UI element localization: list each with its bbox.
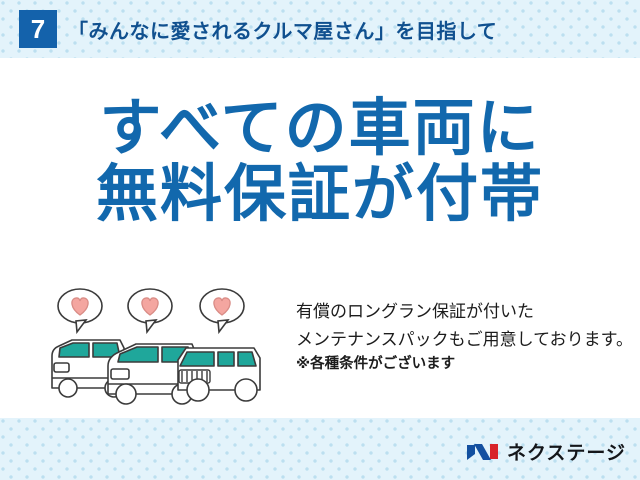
body-note: ※各種条件がございます <box>296 353 633 376</box>
headline-line-2: 無料保証が付帯 <box>0 162 640 228</box>
headline-line-1: すべての車両に <box>0 96 640 162</box>
header-title: 「みんなに愛されるクルマ屋さん」を目指して <box>68 15 497 44</box>
section-number-badge: 7 <box>19 10 57 48</box>
content-row: 有償のロングラン保証が付いた メンテナンスパックもご用意しております。 ※各種条… <box>0 286 640 406</box>
page-headline: すべての車両に 無料保証が付帯 <box>0 96 640 227</box>
brand-logo: ネクステージ <box>466 438 626 465</box>
vehicle-suv <box>178 348 260 401</box>
body-line-1: 有償のロングラン保証が付いた <box>296 298 633 326</box>
nexstage-n-icon <box>466 440 500 464</box>
header: 7 「みんなに愛されるクルマ屋さん」を目指して <box>0 0 640 58</box>
cars-with-hearts-illustration <box>46 286 282 406</box>
brand-name: ネクステージ <box>507 438 626 465</box>
advertisement-page: 7 「みんなに愛されるクルマ屋さん」を目指して すべての車両に 無料保証が付帯 <box>0 0 640 480</box>
body-line-2: メンテナンスパックもご用意しております。 <box>296 326 633 354</box>
body-text-block: 有償のロングラン保証が付いた メンテナンスパックもご用意しております。 ※各種条… <box>296 286 633 377</box>
